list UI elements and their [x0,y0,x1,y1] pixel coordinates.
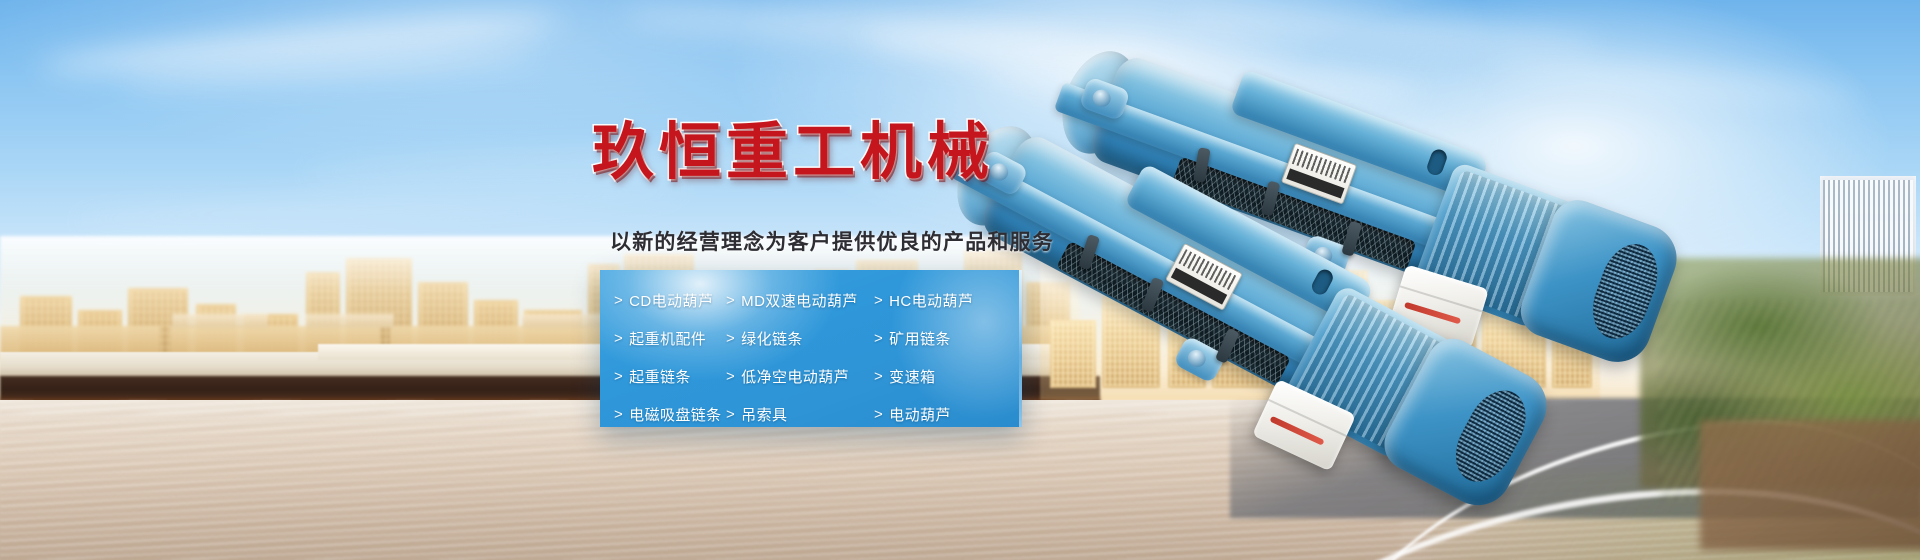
bracket-lifting-hole [1425,147,1449,177]
chevron-right-icon: > [614,407,623,422]
chevron-right-icon: > [874,331,883,346]
product-link-grid: > CD电动葫芦 > MD双速电动葫芦 > HC电动葫芦 > 起重机配件 > 绿… [600,270,1022,427]
chevron-right-icon: > [614,293,623,308]
cloud-wisp [120,43,540,92]
chevron-right-icon: > [726,293,735,308]
chevron-right-icon: > [874,369,883,384]
product-link-label: 吊索具 [741,404,787,425]
fan-grille [1583,236,1667,347]
product-link-hc-hoist[interactable]: > HC电动葫芦 [874,290,1022,311]
chevron-right-icon: > [726,369,735,384]
cloud-wisp [40,7,560,80]
banner-headline: 玖恒重工机械 [592,122,994,184]
product-link-label: 变速箱 [889,366,935,387]
lug-pin [1185,347,1209,370]
product-link-label: 绿化链条 [741,328,803,349]
product-link-label: CD电动葫芦 [629,290,713,311]
product-link-cd-hoist[interactable]: > CD电动葫芦 [614,290,726,311]
product-link-label: HC电动葫芦 [889,290,973,311]
product-link-label: MD双速电动葫芦 [741,290,858,311]
fan-grille [1444,380,1538,492]
product-link-electric-hoist[interactable]: > 电动葫芦 [874,404,1022,425]
product-list-panel: > CD电动葫芦 > MD双速电动葫芦 > HC电动葫芦 > 起重机配件 > 绿… [600,270,1022,427]
product-link-label: 矿用链条 [889,328,951,349]
product-link-label: 起重链条 [629,366,691,387]
product-link-mining-chain[interactable]: > 矿用链条 [874,328,1022,349]
chevron-right-icon: > [726,331,735,346]
bracket-lifting-hole [1309,267,1335,297]
banner-subheadline: 以新的经营理念为客户提供优良的产品和服务 [610,226,1054,256]
chevron-right-icon: > [726,407,735,422]
product-link-gearbox[interactable]: > 变速箱 [874,366,1022,387]
hero-banner: 玖恒重工机械 以新的经营理念为客户提供优良的产品和服务 > CD电动葫芦 > M… [0,0,1920,560]
product-link-crane-parts[interactable]: > 起重机配件 [614,328,726,349]
product-link-lifting-chain[interactable]: > 起重链条 [614,366,726,387]
product-link-md-dual-speed-hoist[interactable]: > MD双速电动葫芦 [726,290,874,311]
chevron-right-icon: > [874,407,883,422]
cloud-wisp [1480,53,1861,110]
product-link-low-headroom-hoist[interactable]: > 低净空电动葫芦 [726,366,874,387]
chevron-right-icon: > [874,293,883,308]
product-link-greening-chain[interactable]: > 绿化链条 [726,328,874,349]
hillside-slope [1700,420,1920,550]
product-link-label: 电动葫芦 [889,404,951,425]
product-link-magnetic-chuck-chain[interactable]: > 电磁吸盘链条 [614,404,726,425]
cloud-wisp [70,180,690,230]
product-link-label: 电磁吸盘链条 [629,404,721,425]
chevron-right-icon: > [614,331,623,346]
product-link-slings[interactable]: > 吊索具 [726,404,874,425]
chevron-right-icon: > [614,369,623,384]
product-link-label: 低净空电动葫芦 [741,366,849,387]
product-link-label: 起重机配件 [629,328,706,349]
